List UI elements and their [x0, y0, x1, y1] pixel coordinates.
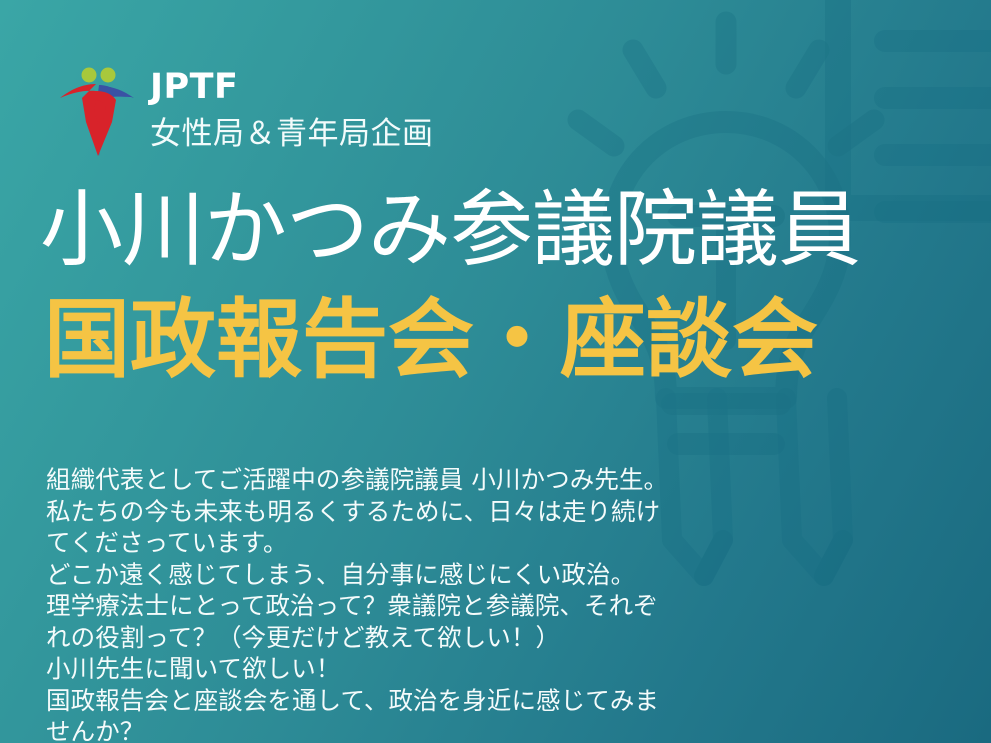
body-line: 国政報告会と座談会を通して、政治を身近に感じてみま [46, 685, 706, 717]
body-line: 小川先生に聞いて欲しい！ [46, 653, 706, 685]
brand-block: JPTF 女性局＆青年局企画 [58, 64, 434, 160]
brand-subtitle: 女性局＆青年局企画 [150, 115, 434, 154]
body-line: てくださっています。 [46, 527, 706, 559]
event-title: 国政報告会・座談会 [44, 295, 974, 386]
jptf-logo [58, 64, 136, 160]
logo-head-right [101, 68, 116, 83]
body-line: せんか？ [46, 716, 706, 743]
body-copy: 組織代表としてご活躍中の参議院議員 小川かつみ先生。 私たちの今も未来も明るくす… [46, 464, 706, 743]
logo-figure-red [60, 84, 116, 156]
body-line: どこか遠く感じてしまう、自分事に感じにくい政治。 [46, 559, 706, 591]
brand-name: JPTF [150, 70, 434, 105]
body-line: 理学療法士にとって政治って？衆議院と参議院、それぞ [46, 590, 706, 622]
logo-head-left [82, 68, 97, 83]
body-line: れの役割って？（今更だけど教えて欲しい！） [46, 622, 706, 654]
body-line: 組織代表としてご活躍中の参議院議員 小川かつみ先生。 [46, 464, 706, 496]
body-line: 私たちの今も未来も明るくするために、日々は走り続け [46, 496, 706, 528]
main-title: 小川かつみ参議院議員 [40, 186, 970, 274]
poster-canvas: JPTF 女性局＆青年局企画 小川かつみ参議院議員 国政報告会・座談会 組織代表… [0, 0, 991, 743]
